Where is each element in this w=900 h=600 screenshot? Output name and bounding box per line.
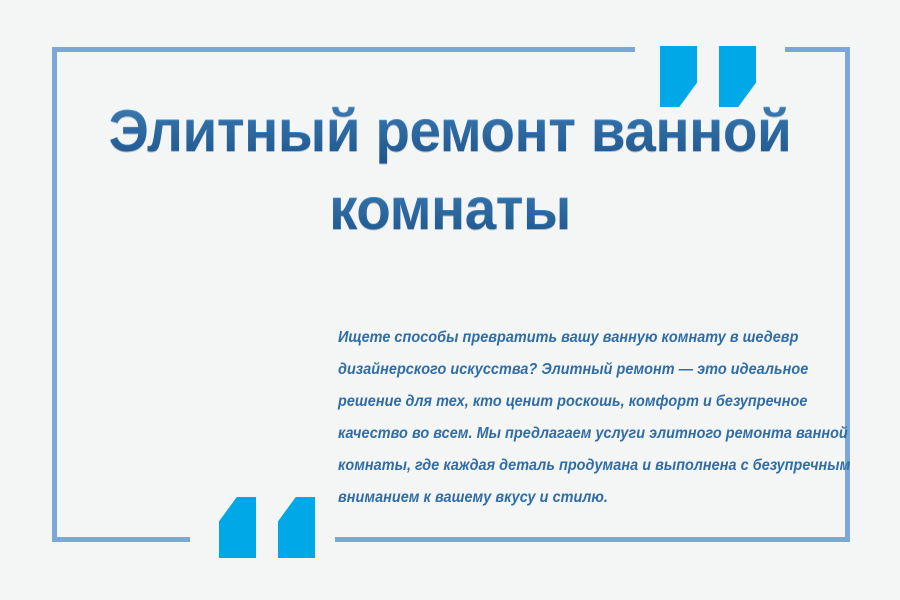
quote-mark-icon	[219, 497, 256, 558]
body-paragraph-line: вниманием к вашему вкусу и стилю.	[338, 482, 775, 514]
frame-border-top-left	[52, 47, 635, 52]
slide-canvas: Элитный ремонт ванной комнаты Ищете спос…	[0, 0, 900, 600]
body-paragraph-line: комнаты, где каждая деталь продумана и в…	[338, 450, 775, 482]
opening-quote-ornament	[219, 497, 315, 558]
page-title-line-1: Элитный ремонт ванной	[76, 92, 825, 170]
frame-border-top-right	[785, 47, 850, 52]
body-paragraph: Ищете способы превратить вашу ванную ком…	[338, 322, 808, 514]
body-paragraph-line: Ищете способы превратить вашу ванную ком…	[338, 322, 775, 354]
frame-border-left	[52, 47, 57, 542]
frame-border-bottom-right	[335, 537, 850, 542]
body-paragraph-line: качество во всем. Мы предлагаем услуги э…	[338, 418, 775, 450]
frame-border-bottom-left	[52, 537, 190, 542]
quote-mark-icon	[278, 497, 315, 558]
body-paragraph-line: дизайнерского искусства? Элитный ремонт …	[338, 354, 775, 386]
page-title: Элитный ремонт ванной комнаты	[60, 92, 840, 248]
body-paragraph-line: решение для тех, кто ценит роскошь, комф…	[338, 386, 775, 418]
page-title-line-2: комнаты	[76, 170, 825, 248]
